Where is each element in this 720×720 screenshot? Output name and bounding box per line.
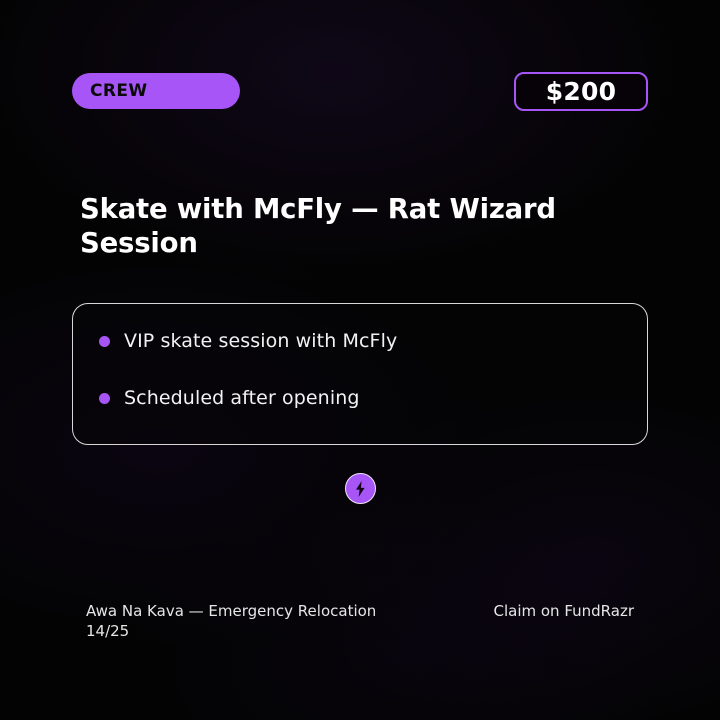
tier-badge-label: CREW [90, 83, 148, 100]
page-title: Skate with McFly — Rat Wizard Session [80, 192, 648, 261]
list-item: Scheduled after opening [99, 387, 621, 409]
footer-campaign-block: Awa Na Kava — Emergency Relocation 14/25 [86, 602, 376, 641]
price-badge[interactable]: $200 [514, 72, 648, 111]
price-badge-label: $200 [546, 79, 616, 104]
perk-label: VIP skate session with McFly [124, 332, 397, 351]
perk-label: Scheduled after opening [124, 389, 360, 408]
perks-card: VIP skate session with McFly Scheduled a… [72, 303, 648, 445]
footer: Awa Na Kava — Emergency Relocation 14/25… [86, 602, 634, 641]
promo-card-canvas: CREW $200 Skate with McFly — Rat Wizard … [0, 0, 720, 720]
bullet-dot-icon [99, 393, 110, 404]
header-row: CREW $200 [72, 72, 648, 110]
lightning-badge [345, 473, 376, 504]
list-item: VIP skate session with McFly [99, 330, 621, 352]
tier-badge[interactable]: CREW [72, 73, 240, 109]
tier-counter: 14/25 [86, 622, 376, 642]
campaign-name: Awa Na Kava — Emergency Relocation [86, 602, 376, 622]
lightning-bolt-icon [345, 473, 376, 504]
bullet-dot-icon [99, 336, 110, 347]
claim-cta[interactable]: Claim on FundRazr [493, 602, 634, 622]
